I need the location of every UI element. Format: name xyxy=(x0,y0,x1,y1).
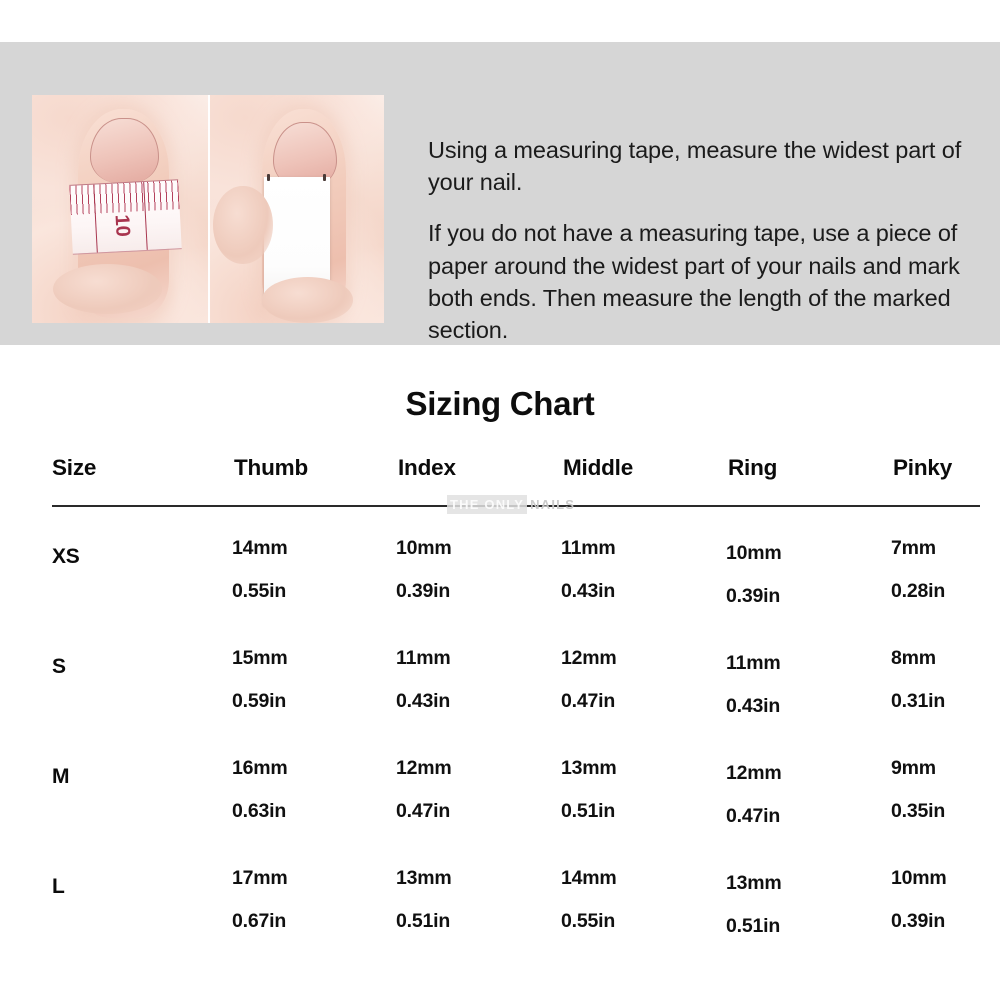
cell-value-mm: 16mm xyxy=(232,759,382,779)
column-header-ring: Ring xyxy=(728,455,878,481)
cell-value-in: 0.59in xyxy=(232,692,382,712)
sizing-chart-table: Size Thumb Index Middle Ring Pinky XS 14… xyxy=(0,455,1000,959)
cell-thumb: 16mm 0.63in xyxy=(232,759,382,821)
cell-value-in: 0.43in xyxy=(726,697,876,717)
column-header-middle: Middle xyxy=(563,455,713,481)
table-row: S 15mm 0.59in 11mm 0.43in 12mm 0.47in 11… xyxy=(0,629,1000,739)
cell-index: 11mm 0.43in xyxy=(396,649,546,711)
cell-thumb: 17mm 0.67in xyxy=(232,869,382,931)
cell-value-in: 0.43in xyxy=(561,582,711,602)
tape-number-label: 10 xyxy=(110,214,134,237)
cell-index: 12mm 0.47in xyxy=(396,759,546,821)
cell-middle: 14mm 0.55in xyxy=(561,869,711,931)
cell-value-in: 0.39in xyxy=(726,587,876,607)
row-label-size: M xyxy=(52,765,69,789)
cell-value-mm: 12mm xyxy=(561,649,711,669)
cell-thumb: 15mm 0.59in xyxy=(232,649,382,711)
cell-value-mm: 11mm xyxy=(561,539,711,559)
knuckle-crease-left xyxy=(53,264,162,314)
cell-value-mm: 14mm xyxy=(561,869,711,889)
cell-value-in: 0.47in xyxy=(561,692,711,712)
fingernail-left xyxy=(90,118,159,183)
column-header-index: Index xyxy=(398,455,548,481)
cell-value-mm: 12mm xyxy=(396,759,546,779)
paper-mark-right xyxy=(323,174,326,181)
cell-pinky: 10mm 0.39in xyxy=(891,869,1000,931)
cell-value-mm: 10mm xyxy=(891,869,1000,889)
cell-middle: 12mm 0.47in xyxy=(561,649,711,711)
row-label-size: S xyxy=(52,655,66,679)
instruction-banner: 10 Using a measuring tape, measure the w… xyxy=(0,42,1000,345)
cell-value-mm: 13mm xyxy=(561,759,711,779)
tape-tick-marks xyxy=(69,180,179,214)
cell-value-in: 0.51in xyxy=(726,917,876,937)
knuckle-crease-right xyxy=(213,186,272,264)
photo-paper-strip xyxy=(208,95,384,323)
cell-middle: 11mm 0.43in xyxy=(561,539,711,601)
cell-value-mm: 13mm xyxy=(726,874,876,894)
measuring-photo: 10 xyxy=(32,95,384,323)
cell-value-in: 0.67in xyxy=(232,912,382,932)
cell-pinky: 8mm 0.31in xyxy=(891,649,1000,711)
measuring-tape-strip: 10 xyxy=(69,179,182,255)
table-row: XS 14mm 0.55in 10mm 0.39in 11mm 0.43in 1… xyxy=(0,519,1000,629)
table-header-row: Size Thumb Index Middle Ring Pinky xyxy=(0,455,1000,489)
cell-value-mm: 12mm xyxy=(726,764,876,784)
cell-ring: 11mm 0.43in xyxy=(726,654,876,716)
cell-value-in: 0.55in xyxy=(561,912,711,932)
row-label-size: XS xyxy=(52,545,80,569)
fingertip-crease-right xyxy=(262,277,352,323)
cell-index: 10mm 0.39in xyxy=(396,539,546,601)
cell-pinky: 9mm 0.35in xyxy=(891,759,1000,821)
cell-value-mm: 15mm xyxy=(232,649,382,669)
cell-value-in: 0.35in xyxy=(891,802,1000,822)
instruction-paragraph-2: If you do not have a measuring tape, use… xyxy=(428,217,984,346)
cell-value-in: 0.39in xyxy=(396,582,546,602)
table-row: M 16mm 0.63in 12mm 0.47in 13mm 0.51in 12… xyxy=(0,739,1000,849)
table-header-divider xyxy=(52,505,980,507)
cell-value-in: 0.51in xyxy=(561,802,711,822)
cell-middle: 13mm 0.51in xyxy=(561,759,711,821)
cell-value-in: 0.51in xyxy=(396,912,546,932)
cell-thumb: 14mm 0.55in xyxy=(232,539,382,601)
cell-value-mm: 11mm xyxy=(726,654,876,674)
cell-ring: 10mm 0.39in xyxy=(726,544,876,606)
cell-value-mm: 9mm xyxy=(891,759,1000,779)
photo-measuring-tape: 10 xyxy=(32,95,208,323)
paper-mark-left xyxy=(267,174,270,181)
cell-value-in: 0.47in xyxy=(396,802,546,822)
cell-value-in: 0.47in xyxy=(726,807,876,827)
column-header-thumb: Thumb xyxy=(234,455,384,481)
cell-pinky: 7mm 0.28in xyxy=(891,539,1000,601)
cell-value-in: 0.28in xyxy=(891,582,1000,602)
instruction-text-block: Using a measuring tape, measure the wide… xyxy=(428,134,984,346)
column-header-pinky: Pinky xyxy=(893,455,1000,481)
cell-value-mm: 11mm xyxy=(396,649,546,669)
sizing-chart-title: Sizing Chart xyxy=(0,385,1000,423)
cell-value-mm: 13mm xyxy=(396,869,546,889)
row-label-size: L xyxy=(52,875,65,899)
table-row: L 17mm 0.67in 13mm 0.51in 14mm 0.55in 13… xyxy=(0,849,1000,959)
cell-value-in: 0.63in xyxy=(232,802,382,822)
cell-value-in: 0.39in xyxy=(891,912,1000,932)
cell-value-mm: 17mm xyxy=(232,869,382,889)
cell-value-mm: 7mm xyxy=(891,539,1000,559)
cell-value-in: 0.55in xyxy=(232,582,382,602)
cell-index: 13mm 0.51in xyxy=(396,869,546,931)
cell-ring: 13mm 0.51in xyxy=(726,874,876,936)
cell-value-in: 0.43in xyxy=(396,692,546,712)
cell-value-mm: 10mm xyxy=(396,539,546,559)
cell-value-mm: 8mm xyxy=(891,649,1000,669)
instruction-paragraph-1: Using a measuring tape, measure the wide… xyxy=(428,134,984,198)
cell-value-in: 0.31in xyxy=(891,692,1000,712)
column-header-size: Size xyxy=(52,455,182,481)
cell-value-mm: 10mm xyxy=(726,544,876,564)
cell-ring: 12mm 0.47in xyxy=(726,764,876,826)
cell-value-mm: 14mm xyxy=(232,539,382,559)
